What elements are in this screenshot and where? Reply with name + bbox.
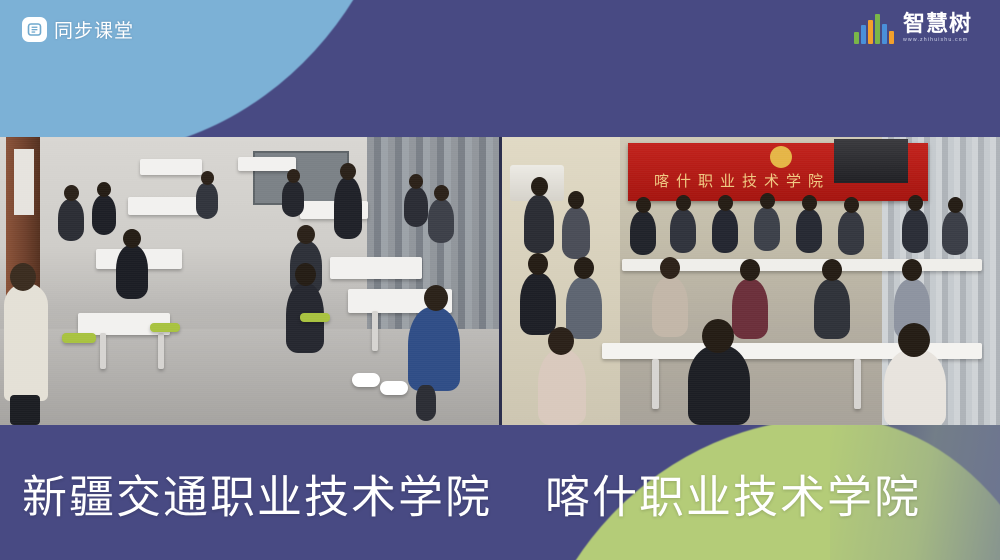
right-scene-student-head [822,259,842,281]
left-scene-student-head [295,263,316,286]
caption-right-school: 喀什职业技术学院 [545,460,921,525]
right-scene-student-head [802,195,817,211]
right-scene-student [754,207,780,251]
left-scene-student [404,187,428,227]
left-scene-desk-leg [158,333,164,369]
school-emblem-icon [770,146,792,168]
caption-left-school: 新疆交通职业技术学院 [22,460,492,525]
right-scene-student [942,211,968,255]
right-scene-student-head [636,197,651,213]
left-scene-student-head [201,171,214,185]
right-scene-student-front [688,345,750,425]
left-scene-student-head [64,185,79,201]
right-scene-student [524,195,554,253]
brand-zhihuishu-label: 智慧树 [903,12,972,36]
bar-chart-logo-icon [854,14,894,44]
right-scene-student-head [908,195,923,211]
left-scene-student-head [409,174,423,189]
left-scene-chair [150,323,180,332]
dual-video-strip: 喀什职业技术学院 [0,137,1000,425]
left-scene-desk [238,157,296,171]
left-scene-student-head [97,182,111,197]
right-scene-student [566,277,602,339]
right-scene-student [902,209,928,253]
logo-bar [889,31,894,44]
right-scene-student [630,211,656,255]
left-scene-door-panel [14,149,34,215]
brand-zhihuishu[interactable]: 智慧树 www.zhihuishu.com [854,12,972,44]
left-scene-student-head [424,285,448,311]
left-scene-teacher [4,283,48,401]
chalkboard-logo-icon [22,17,47,42]
left-scene-chair [300,313,330,322]
left-scene-student [58,199,84,241]
logo-bar [875,14,880,44]
left-scene-student [92,195,116,235]
right-scene-camera-equipment [834,139,908,183]
right-scene-student-head [568,191,584,209]
left-scene-student-head [123,229,141,248]
right-scene-student [796,209,822,253]
logo-bar [882,24,887,44]
right-scene-student-head [528,253,548,275]
left-scene-desk [330,257,422,279]
header-bar: 同步课堂 智慧树 www.zhihuishu.com [0,0,1000,137]
classroom-stream-right[interactable]: 喀什职业技术学院 [502,137,1000,425]
left-scene-desk-leg [372,311,378,351]
left-scene-shoe [352,373,380,387]
right-scene-student [520,273,556,335]
left-scene-student [428,199,454,243]
left-scene-shoe [380,381,408,395]
right-scene-student-head [740,259,760,281]
right-scene-student-head [574,257,594,279]
right-scene-desk-leg [854,359,861,409]
left-scene-student-head [340,163,356,180]
right-scene-student [562,207,590,259]
caption-band: 新疆交通职业技术学院 喀什职业技术学院 [0,425,1000,560]
right-scene-student-head [660,257,680,279]
left-scene-student-blue-jacket [408,307,460,391]
brand-sync-classroom[interactable]: 同步课堂 [22,16,134,43]
logo-bar [868,20,873,44]
right-scene-student-head [548,327,574,355]
right-scene-student-head [902,259,922,281]
left-scene-chair [62,333,96,343]
right-scene-student-head [702,319,734,353]
right-scene-desk-leg [652,359,659,409]
left-scene-student [282,181,304,217]
left-scene-student [116,245,148,299]
right-scene-student-head [844,197,859,213]
right-scene-student [732,279,768,339]
right-scene-student-head [760,193,775,209]
brand-zhihuishu-wordmark: 智慧树 www.zhihuishu.com [903,12,972,44]
right-scene-student-head [718,195,733,211]
right-scene-student-head [676,195,691,211]
sync-classroom-stage: 同步课堂 智慧树 www.zhihuishu.com [0,0,1000,560]
left-scene-teacher-legs [10,395,40,425]
right-scene-student [670,209,696,253]
brand-zhihuishu-url: www.zhihuishu.com [903,36,968,44]
right-scene-student [712,209,738,253]
left-scene-student-legs [416,385,436,421]
logo-bar [861,25,866,44]
brand-sync-classroom-label: 同步课堂 [54,16,134,43]
left-scene-desk-leg [100,333,106,369]
right-scene-student [838,211,864,255]
right-scene-student-front [538,349,586,425]
left-scene-student-standing [334,177,362,239]
right-scene-student-head [948,197,963,213]
left-scene-student-head [434,185,449,201]
right-scene-student-head [531,177,548,196]
right-scene-student [652,277,688,337]
logo-bar [854,32,859,44]
right-scene-student [814,279,850,339]
left-scene-student-head [287,169,300,183]
right-scene-student-front [884,349,946,425]
classroom-stream-left[interactable] [0,137,499,425]
right-scene-student-head [898,323,930,357]
left-scene-student [196,183,218,219]
left-scene-desk [128,197,202,215]
left-scene-teacher-head [10,263,36,291]
left-scene-desk [140,159,202,175]
left-scene-student-head [297,225,315,244]
